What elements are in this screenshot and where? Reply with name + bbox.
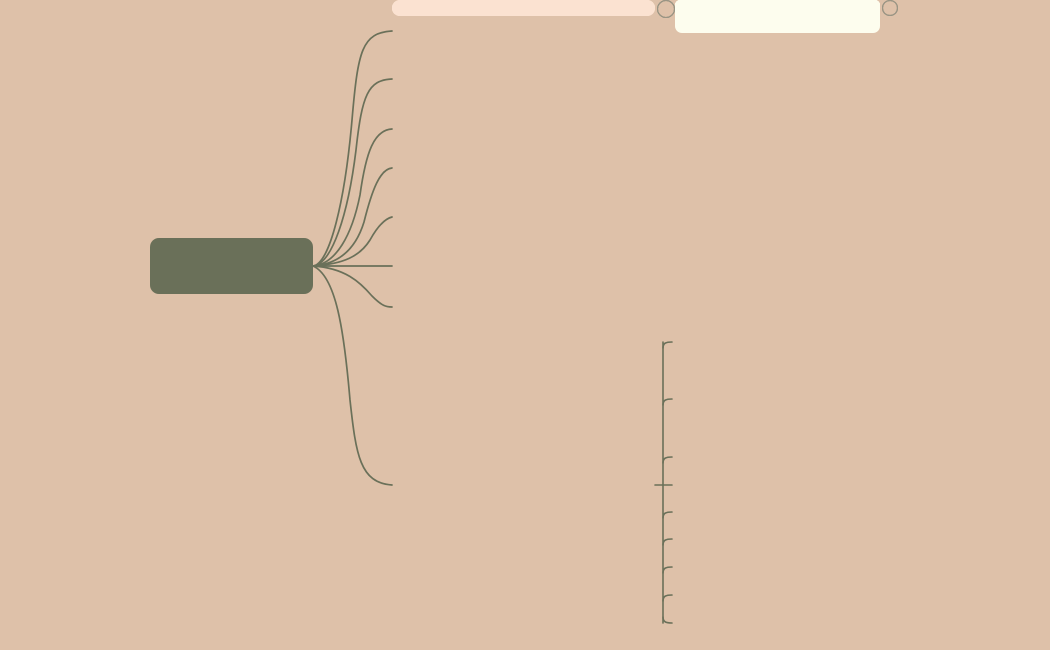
branch-count-badge[interactable] [657,0,675,18]
mindmap-canvas [0,0,1050,650]
branch-node-cancer-genetics[interactable] [392,0,655,16]
subnode[interactable] [675,0,880,10]
subnode-count-badge[interactable] [882,0,898,16]
root-node[interactable] [150,238,313,294]
connector-edges [0,0,1050,650]
